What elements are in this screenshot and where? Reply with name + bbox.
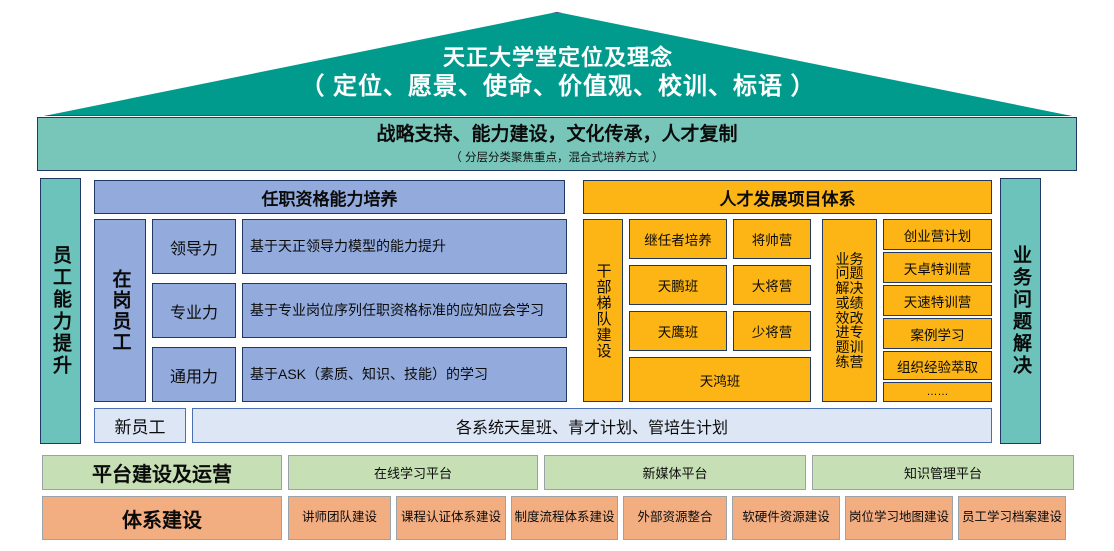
cadre-item-minor-general-camp: 少将营	[733, 311, 811, 351]
roof-title-line1: 天正大学堂定位及理念	[443, 45, 673, 72]
cadre-item-major-general-camp: 大将营	[733, 265, 811, 305]
capability-general: 通用力	[152, 347, 236, 402]
strategy-band-sub: （ 分层分类聚焦重点，混合式培养方式 ）	[450, 149, 663, 165]
system-item-hardware-software: 软硬件资源建设	[732, 496, 840, 540]
cadre-item-successor: 继任者培养	[629, 219, 727, 259]
pillar-business-problem: 业务问题解决	[1000, 178, 1041, 444]
cadre-echelon-label: 干部梯队建设	[583, 219, 623, 402]
system-item-trainer-team: 讲师团队建设	[288, 496, 391, 540]
roof-title: 天正大学堂定位及理念 （ 定位、愿景、使命、价值观、校训、标语 ）	[44, 34, 1072, 112]
cadre-item-tianhong: 天鸿班	[629, 357, 811, 402]
cadre-item-general-camp: 将帅营	[733, 219, 811, 259]
talent-program-header: 人才发展项目体系	[583, 180, 992, 214]
new-employee-programs: 各系统天星班、青才计划、管培生计划	[192, 408, 992, 443]
business-problem-camp-label: 业务问题解决或绩效改进专题训练营	[822, 219, 877, 402]
pyramid-diagram: 天正大学堂定位及理念 （ 定位、愿景、使命、价值观、校训、标语 ） 战略支持、能…	[0, 0, 1114, 551]
platform-item-online-learning: 在线学习平台	[288, 455, 538, 490]
platform-main-label: 平台建设及运营	[42, 455, 282, 490]
cadre-item-tianying: 天鹰班	[629, 311, 727, 351]
strategy-band-main: 战略支持、能力建设，文化传承，人才复制	[376, 123, 737, 147]
cadre-item-tianpeng: 天鹏班	[629, 265, 727, 305]
capability-leadership: 领导力	[152, 219, 236, 274]
talent-item-more: ……	[883, 382, 992, 402]
roof-title-line2: （ 定位、愿景、使命、价值观、校训、标语 ）	[300, 72, 815, 101]
talent-item-startup-camp: 创业营计划	[883, 219, 992, 250]
talent-item-experience-extraction: 组织经验萃取	[883, 351, 992, 380]
platform-item-new-media: 新媒体平台	[544, 455, 806, 490]
talent-item-tiansu-camp: 天速特训营	[883, 285, 992, 316]
platform-item-knowledge-management: 知识管理平台	[812, 455, 1074, 490]
new-employee-label: 新员工	[94, 408, 186, 443]
talent-item-tianzhuo-camp: 天卓特训营	[883, 252, 992, 283]
business-problem-camp-text: 业务问题解决或绩效改进专题训练营	[834, 252, 866, 370]
system-item-employee-learning-record: 员工学习档案建设	[958, 496, 1066, 540]
qualification-header: 任职资格能力培养	[94, 180, 565, 214]
system-item-external-resources: 外部资源整合	[623, 496, 727, 540]
capability-general-desc: 基于ASK（素质、知识、技能）的学习	[242, 347, 567, 402]
system-item-course-certification: 课程认证体系建设	[396, 496, 506, 540]
system-main-label: 体系建设	[42, 496, 282, 540]
capability-professional-desc: 基于专业岗位序列任职资格标准的应知应会学习	[242, 283, 567, 338]
system-item-process-system: 制度流程体系建设	[511, 496, 618, 540]
strategy-band: 战略支持、能力建设，文化传承，人才复制 （ 分层分类聚焦重点，混合式培养方式 ）	[37, 117, 1077, 171]
system-item-job-learning-map: 岗位学习地图建设	[845, 496, 953, 540]
pillar-employee-capability: 员工能力提升	[40, 178, 81, 444]
capability-professional: 专业力	[152, 283, 236, 338]
talent-item-case-study: 案例学习	[883, 318, 992, 349]
on-job-employee-label: 在岗员工	[94, 219, 146, 402]
capability-leadership-desc: 基于天正领导力模型的能力提升	[242, 219, 567, 274]
